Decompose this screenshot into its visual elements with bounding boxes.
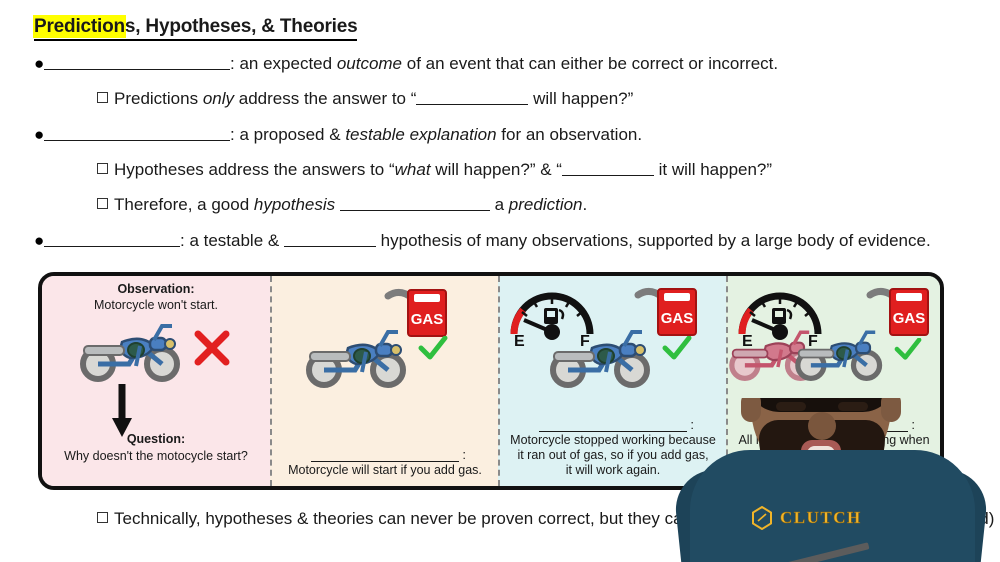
fill-blank[interactable] — [44, 233, 180, 247]
checkbox-square-icon — [97, 92, 108, 103]
panel-question-label: Question: — [42, 432, 270, 446]
line-text-end: . — [583, 195, 588, 214]
emphasis-testable-explanation: testable explanation — [345, 125, 496, 144]
arrow-down-icon — [110, 384, 134, 438]
checkbox-square-icon — [97, 198, 108, 209]
line-text: Therefore, a good — [114, 195, 254, 214]
fill-blank[interactable] — [539, 419, 687, 432]
fill-blank[interactable] — [284, 233, 376, 247]
outline-theory-definition: ●: a testable & hypothesis of many obser… — [34, 231, 931, 251]
bottom-note-occluded: be proven incorrect (disproven/falsified… — [697, 509, 995, 528]
panel-caption-line2: it ran out of gas, so if you add gas, — [517, 448, 708, 462]
diagram-panel-observation: Observation: Motorcycle won't start. — [42, 276, 270, 486]
green-check-icon — [418, 336, 448, 362]
outline-prediction-sub: Predictions only address the answer to “… — [97, 89, 633, 109]
panel-caption-line3: it will work again. — [566, 463, 660, 477]
pen — [780, 542, 869, 562]
diagram-panel-theory: E F GAS — [726, 276, 940, 486]
emphasis-prediction: prediction — [509, 195, 583, 214]
checkbox-square-icon — [97, 163, 108, 174]
title-rest: s, Hypotheses, & Theories — [125, 16, 358, 37]
line-text: : a proposed & — [230, 125, 345, 144]
motorcycle-blue-icon — [74, 320, 189, 382]
bottom-note-text: Technically, hypotheses & theories can n… — [114, 509, 697, 528]
line-text: : an expected — [230, 54, 337, 73]
line-text-end: it will happen?” — [654, 160, 772, 179]
gas-can-label: GAS — [411, 311, 444, 328]
panel-caption: Motorcycle will start if you add gas. — [274, 449, 496, 478]
diagram-panel-prediction: GAS Motorcycle will start — [270, 276, 498, 486]
bullet-icon: ● — [34, 231, 44, 251]
fill-blank[interactable] — [562, 162, 654, 176]
scientific-method-diagram: Observation: Motorcycle won't start. — [38, 272, 944, 490]
diagram-panel-hypothesis: E F GAS — [498, 276, 726, 486]
panel-caption: Motorcycle stopped working because it ra… — [502, 419, 724, 478]
panel-caption-text: Motorcycle will start if you add gas. — [288, 463, 482, 477]
bullet-icon: ● — [34, 54, 44, 74]
fill-blank[interactable] — [44, 56, 230, 70]
panel-caption-line3: if you add gas they will work again. — [737, 463, 930, 477]
line-text: : a testable & — [180, 231, 284, 250]
line-text-end: hypothesis of many observations, support… — [376, 231, 931, 250]
motorcycle-blue-icon — [544, 326, 659, 388]
emphasis-hypothesis: hypothesis — [254, 195, 335, 214]
red-x-icon — [192, 328, 232, 368]
bullet-icon: ● — [34, 125, 44, 145]
panel-heading: Observation: — [42, 282, 270, 296]
panel-caption: All motorcycles stop working when they r… — [730, 419, 938, 478]
outline-hypothesis-sub-2: Therefore, a good hypothesis a predictio… — [97, 195, 587, 215]
line-text-end: will happen?” — [528, 89, 633, 108]
gauge-empty-label: E — [514, 333, 525, 348]
fill-blank[interactable] — [340, 197, 490, 211]
green-check-icon — [894, 338, 922, 362]
emphasis-outcome: outcome — [337, 54, 402, 73]
outline-hypothesis-definition: ●: a proposed & testable explanation for… — [34, 125, 642, 145]
line-text-cont: address the answer to “ — [234, 89, 416, 108]
outline-prediction-definition: ●: an expected outcome of an event that … — [34, 54, 778, 74]
fill-blank[interactable] — [44, 127, 230, 141]
fill-blank[interactable] — [311, 449, 459, 462]
green-check-icon — [662, 336, 692, 362]
emphasis-what: what — [395, 160, 431, 179]
panel-caption-line1: Motorcycle stopped working because — [510, 433, 716, 447]
page-title: Predictions, Hypotheses, & Theories — [34, 16, 357, 41]
panel-caption-line1: All motorcycles stop working when — [738, 433, 929, 447]
motorcycle-blue-icon — [790, 326, 890, 382]
checkbox-square-icon — [97, 512, 108, 523]
line-text-cont2: a — [490, 195, 509, 214]
outline-hypothesis-sub-1: Hypotheses address the answers to “what … — [97, 160, 772, 180]
panel-question-text: Why doesn't the motocycle start? — [42, 449, 270, 463]
motorcycle-blue-icon — [300, 326, 415, 388]
line-text: Predictions — [114, 89, 203, 108]
panel-caption-line2: they run out of gas, so — [772, 448, 896, 462]
fill-blank[interactable] — [760, 419, 908, 432]
line-text-cont: of an event that can either be correct o… — [402, 54, 778, 73]
title-highlight: Prediction — [34, 16, 125, 37]
panel-subheading: Motorcycle won't start. — [42, 298, 270, 312]
emphasis-only: only — [203, 89, 234, 108]
gas-can-label: GAS — [893, 310, 926, 327]
line-text-cont: for an observation. — [497, 125, 643, 144]
bottom-note: Technically, hypotheses & theories can n… — [97, 509, 994, 529]
fill-blank[interactable] — [416, 91, 528, 105]
line-text-cont: will happen?” & “ — [431, 160, 562, 179]
gas-can-label: GAS — [661, 310, 694, 327]
line-text: Hypotheses address the answers to “ — [114, 160, 395, 179]
